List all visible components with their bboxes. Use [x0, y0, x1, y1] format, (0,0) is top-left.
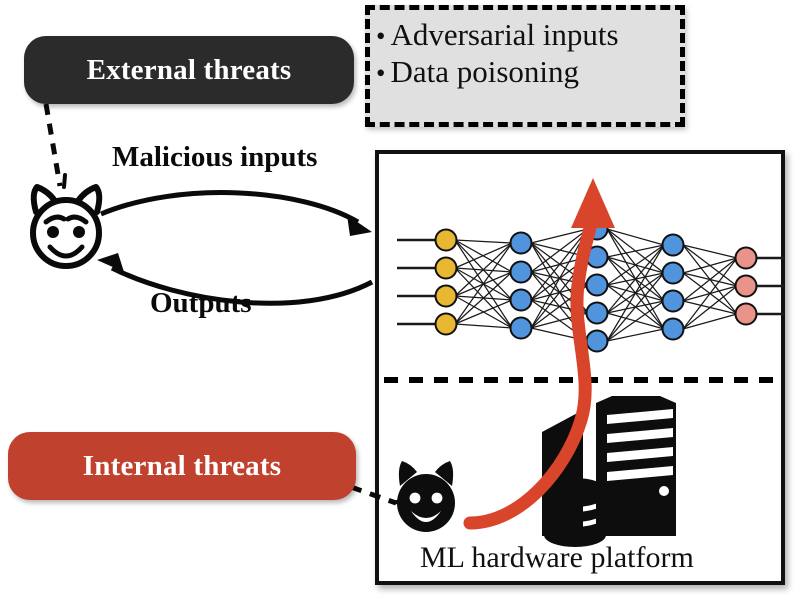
threat-example-item: Data poisoning — [376, 54, 680, 91]
external-threat-examples-callout: Adversarial inputs Data poisoning — [365, 5, 685, 127]
devil-eyes — [47, 226, 85, 238]
external-threats-label: External threats — [87, 54, 292, 87]
panel-caption: ML hardware platform — [420, 541, 694, 575]
internal-threats-label: Internal threats — [83, 450, 281, 483]
figure-canvas: ML hardware platform Malicious inputs — [0, 0, 800, 595]
outputs-arrowhead — [97, 253, 124, 272]
outputs-label: Outputs — [150, 287, 252, 320]
malicious-inputs-arrow — [101, 193, 358, 222]
ml-platform-panel — [375, 150, 785, 585]
malicious-inputs-arrowhead — [347, 215, 372, 236]
threat-example-list: Adversarial inputs Data poisoning — [370, 10, 680, 90]
threat-example-item: Adversarial inputs — [376, 17, 680, 54]
external-badge-leader — [46, 104, 60, 186]
external-threats-badge[interactable]: External threats — [24, 36, 354, 104]
malicious-inputs-label: Malicious inputs — [112, 141, 317, 174]
internal-threats-badge[interactable]: Internal threats — [8, 432, 356, 500]
devil-face-outline-icon — [33, 175, 99, 266]
